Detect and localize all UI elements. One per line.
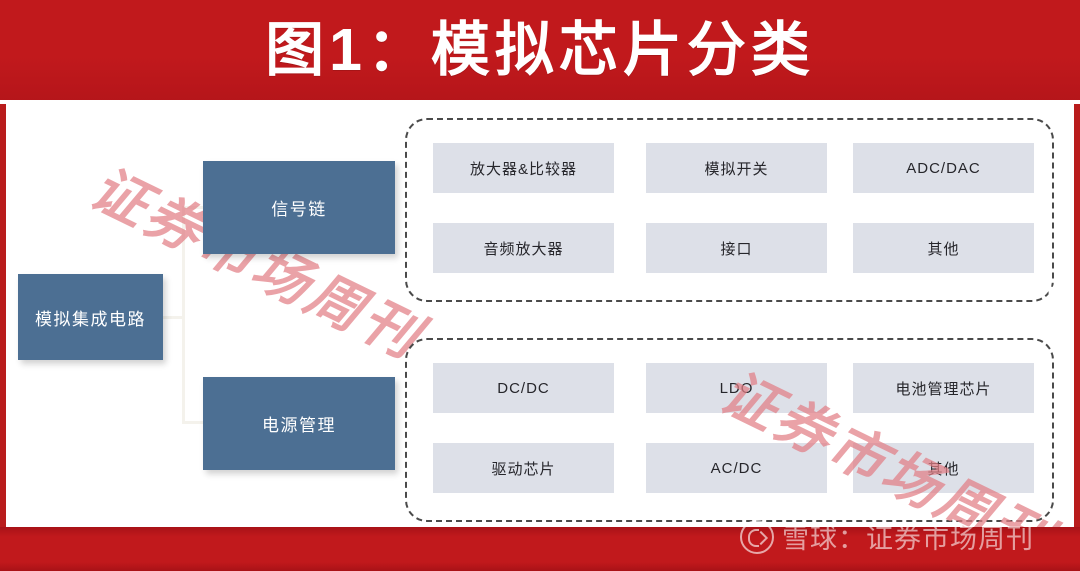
node-branch-signal-chain-label: 信号链 xyxy=(271,195,327,220)
footer-banner xyxy=(0,527,1080,571)
node-root: 模拟集成电路 xyxy=(18,274,163,360)
leaf-signal-4: 接口 xyxy=(646,223,827,273)
connector-to-signal xyxy=(182,206,205,209)
connector-to-power xyxy=(182,421,205,424)
leaf-signal-5: 其他 xyxy=(853,223,1034,273)
node-branch-power-management: 电源管理 xyxy=(203,377,395,470)
diagram-canvas: 证券市场周刊 模拟集成电路 信号链 电源管理 放大器&比较器 模拟开关 ADC/… xyxy=(6,104,1074,527)
connector-vertical xyxy=(182,206,185,424)
leaf-power-3: 驱动芯片 xyxy=(433,443,614,493)
leaf-power-1: LDO xyxy=(646,363,827,413)
header-banner: 图1：模拟芯片分类 xyxy=(0,0,1080,104)
infographic-slide: 图1：模拟芯片分类 证券市场周刊 模拟集成电路 信号链 电源管理 放大器&比较器… xyxy=(0,0,1080,571)
leaf-power-4: AC/DC xyxy=(646,443,827,493)
source-label: 来源：圣邦股份H股招股书 xyxy=(771,268,1064,303)
leaf-signal-2: ADC/DAC xyxy=(853,143,1034,193)
leaf-power-2: 电池管理芯片 xyxy=(853,363,1034,413)
leaf-signal-0: 放大器&比较器 xyxy=(433,143,614,193)
node-branch-signal-chain: 信号链 xyxy=(203,161,395,254)
node-root-label: 模拟集成电路 xyxy=(35,305,146,330)
leaf-signal-1: 模拟开关 xyxy=(646,143,827,193)
leaf-power-0: DC/DC xyxy=(433,363,614,413)
leaf-signal-3: 音频放大器 xyxy=(433,223,614,273)
leaf-power-5: 其他 xyxy=(853,443,1034,493)
page-title: 图1：模拟芯片分类 xyxy=(265,21,815,80)
node-branch-power-management-label: 电源管理 xyxy=(262,411,336,436)
